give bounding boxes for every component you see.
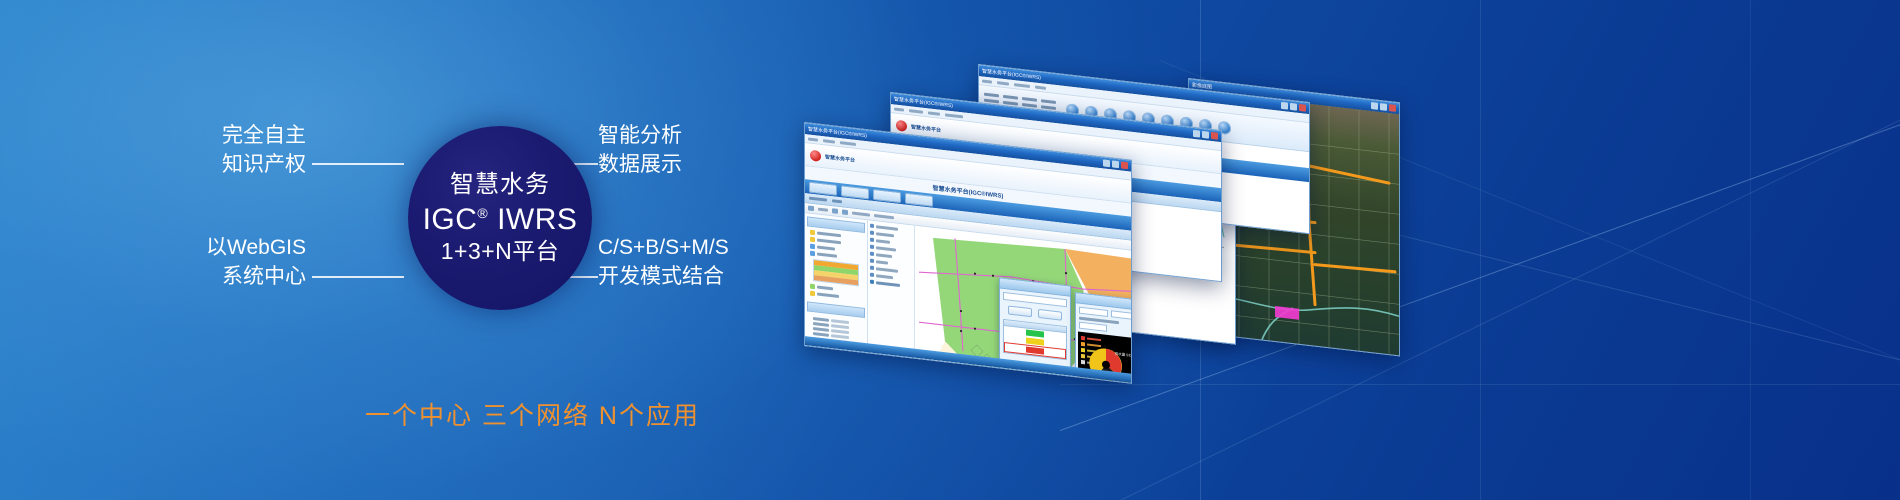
hero-circle-line3: 1+3+N平台 [441,238,560,265]
grid-line-horizontal [1060,384,1900,385]
close-icon[interactable] [1389,104,1396,112]
window-buttons[interactable] [1103,159,1128,169]
feature-bottom-left-line2: 系统中心 [186,263,306,292]
app-title: 智慧水务平台 [911,123,941,133]
window-buttons[interactable] [1193,130,1218,140]
feature-top-left: 完全自主 知识产权 [186,122,306,180]
screenshot-stack: 影像底图 [790,40,1650,370]
hero-circle-line2: IGC® IWRS [423,203,578,238]
minimize-icon[interactable] [1281,102,1288,110]
feature-bottom-right: C/S+B/S+M/S 开发模式结合 [598,234,729,292]
dialog-button-export[interactable] [1038,309,1062,321]
registered-icon: ® [477,205,488,221]
logo-icon [896,119,907,131]
maximize-icon[interactable] [1202,131,1209,139]
layer-legend [813,259,859,286]
banner-root: 影像底图 [0,0,1900,500]
feature-bottom-left-line1: 以WebGIS [186,234,306,263]
hero-brand-iwrs: IWRS [497,203,577,236]
tool-row[interactable] [870,280,912,289]
close-icon[interactable] [1121,161,1128,169]
hero-tagline: 一个中心 三个网络 N个应用 [365,396,700,432]
minimize-icon[interactable] [1193,130,1200,138]
maximize-icon[interactable] [1112,160,1119,168]
minimize-icon[interactable] [1371,102,1378,110]
hero-brand-igc: IGC [423,203,478,236]
dialog-table [1003,319,1067,360]
logo-icon [810,149,821,161]
feature-bottom-right-line2: 开发模式结合 [598,263,729,292]
feature-top-right: 智能分析 数据展示 [598,122,682,180]
connector-line-top-left [312,163,404,165]
grid-line-vertical [1750,0,1751,500]
minimize-icon[interactable] [1103,159,1110,167]
feature-top-right-line2: 数据展示 [598,151,682,180]
hero-circle-line1: 智慧水务 [450,171,550,199]
close-icon[interactable] [1211,132,1218,140]
layer-tree-panel[interactable] [805,213,868,380]
feature-top-right-line1: 智能分析 [598,122,682,151]
feature-bottom-left: 以WebGIS 系统中心 [186,234,306,292]
window-buttons[interactable] [1281,102,1306,112]
maximize-icon[interactable] [1290,103,1297,111]
feature-bottom-right-line1: C/S+B/S+M/S [598,234,729,263]
connector-line-bottom-left [312,276,404,278]
close-icon[interactable] [1299,104,1306,112]
tool-panel[interactable] [868,220,915,383]
maximize-icon[interactable] [1380,103,1387,111]
feature-top-left-line1: 完全自主 [186,122,306,151]
window-buttons[interactable] [1371,102,1396,112]
hero-circle: 智慧水务 IGC® IWRS 1+3+N平台 [408,126,592,310]
dialog-button-query[interactable] [1008,305,1032,317]
app-title: 智慧水务平台 [825,153,855,163]
feature-top-left-line2: 知识产权 [186,151,306,180]
window-front[interactable]: 智慧水务平台(IGC®IWRS) 智慧水务平台 智慧水务平台(IGC®IWRS) [804,122,1132,384]
